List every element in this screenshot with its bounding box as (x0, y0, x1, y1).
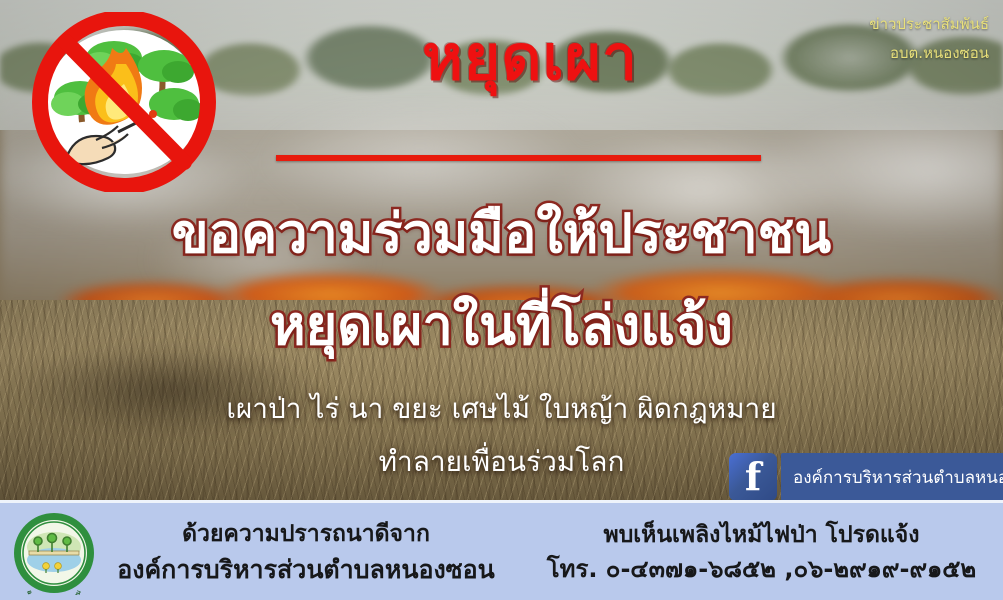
message-line-cooperation: ขอความร่วมมือให้ประชาชน (0, 190, 1003, 276)
agency-announcement-label: ข่าวประชาสัมพันธ์ อบต.หนองซอน (869, 10, 989, 67)
footer-organization-name: องค์การบริหารส่วนตำบลหนองซอน (117, 552, 495, 588)
footer-goodwill-line: ด้วยความปรารถนาดีจาก (182, 518, 430, 551)
facebook-f-glyph: f (729, 455, 777, 499)
announcement-kicker: ข่าวประชาสัมพันธ์ (869, 10, 989, 39)
facebook-page-name[interactable]: องค์การบริหารส่วนตำบลหนองซอน (781, 453, 1003, 501)
headline-stop-burning: หยุดเผา (330, 26, 730, 89)
facebook-badge[interactable]: f องค์การบริหารส่วนตำบลหนองซอน (729, 453, 1003, 501)
footer-left-block: ด้วยความปรารถนาดีจาก องค์การบริหารส่วนตำ… (104, 503, 508, 600)
footer-right-block: พบเห็นเพลิงไหม้ไฟป่า โปรดแจ้ง โทร. ๐-๔๓๗… (520, 503, 1003, 600)
municipality-seal-icon: อบต.หนองซอน อ.เชียงยืน จ.มหาสารคาม (12, 511, 96, 595)
announcement-agency: อบต.หนองซอน (869, 39, 989, 68)
headline-divider-rule (276, 155, 761, 161)
footer-phone-numbers: โทร. ๐-๔๓๗๑-๖๘๕๒ ,๐๖-๒๙๑๙-๙๑๕๒ (547, 552, 977, 587)
facebook-icon[interactable]: f (729, 453, 777, 501)
footer-report-fire-line: พบเห็นเพลิงไหม้ไฟป่า โปรดแจ้ง (604, 519, 920, 552)
message-line-open-burning: หยุดเผาในที่โล่งแจ้ง (0, 282, 1003, 368)
public-announcement-poster: ข่าวประชาสัมพันธ์ อบต.หนองซอน หยุดเผา ขอ… (0, 0, 1003, 600)
footer-bar: อบต.หนองซอน อ.เชียงยืน จ.มหาสารคาม ด้วยค… (0, 500, 1003, 600)
message-line-illegal: เผาป่า ไร่ นา ขยะ เศษไม้ ใบหญ้า ผิดกฎหมา… (0, 387, 1003, 431)
no-burning-icon (22, 12, 227, 192)
